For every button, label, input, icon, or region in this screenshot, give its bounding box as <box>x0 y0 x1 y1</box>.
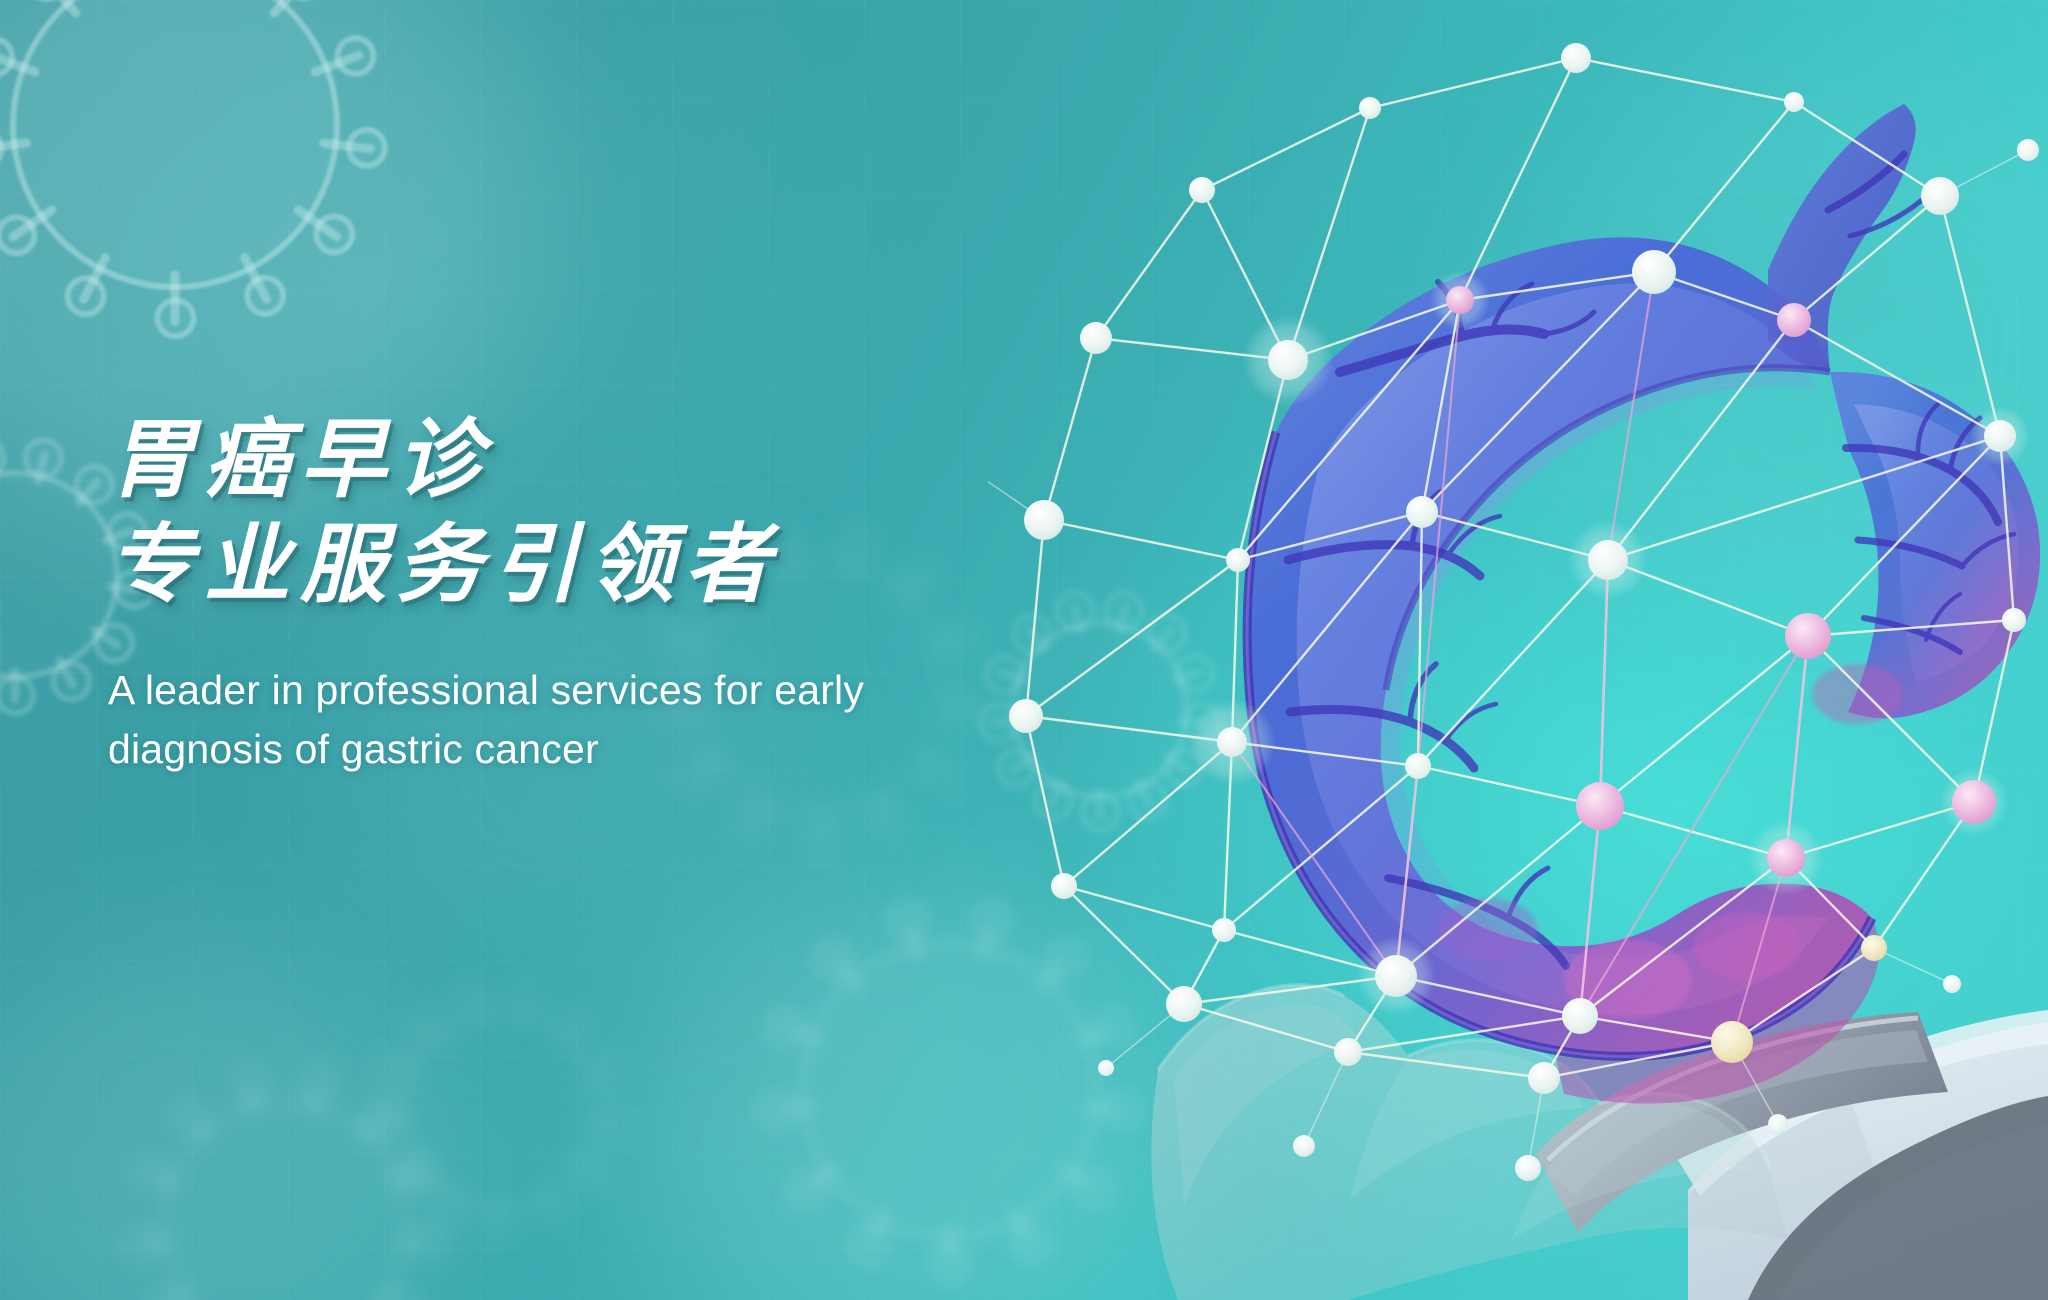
virus-spike <box>77 251 111 305</box>
virus-spike <box>1096 789 1105 820</box>
virus-body <box>800 940 1100 1240</box>
virus-spike <box>555 1016 584 1047</box>
subtitle: A leader in professional services for ea… <box>108 661 1168 777</box>
virus-spike <box>268 0 312 19</box>
virus-spike <box>244 1076 263 1119</box>
virus-spike <box>1007 1205 1039 1254</box>
headline-line-2: 专业服务引领者 <box>108 520 1168 611</box>
headline-line-1: 胃癌早诊 <box>108 415 1168 506</box>
virus-spike <box>378 1116 413 1129</box>
virus-spike <box>394 1234 437 1248</box>
virus-spike <box>1178 715 1209 728</box>
virus-spike <box>496 1198 505 1232</box>
virus-spike <box>292 204 343 243</box>
virus-spike <box>171 270 180 326</box>
virus-spike <box>319 138 376 154</box>
virus-spike <box>309 49 365 77</box>
virus-particle-icon <box>400 1010 600 1210</box>
virus-particle-icon <box>0 470 120 680</box>
subtitle-line-1: A leader in professional services for ea… <box>108 661 1168 719</box>
open-hand <box>1151 985 1788 1300</box>
virus-body <box>10 0 340 290</box>
virus-spike <box>238 251 272 305</box>
sleeve-cuff <box>1536 1012 2048 1300</box>
virus-spike <box>33 450 50 487</box>
virus-spike <box>397 1156 430 1183</box>
virus-spike <box>517 990 534 1025</box>
virus-spike <box>141 1167 184 1190</box>
lab-coat-sleeve <box>1678 1010 2048 1300</box>
virus-spike <box>977 911 998 963</box>
virus-spike <box>133 1234 176 1248</box>
virus-spike <box>946 1222 955 1273</box>
virus-spike <box>825 950 866 994</box>
virus-particle-icon <box>160 1100 410 1300</box>
virus-spike <box>373 1284 413 1300</box>
virus-spike <box>7 204 58 243</box>
virus-spike <box>439 1186 463 1220</box>
virus-spike <box>73 476 103 509</box>
virus-spike <box>797 1161 844 1197</box>
virus-spike <box>0 49 41 77</box>
virus-spike <box>0 138 31 154</box>
virus-spike <box>1034 950 1075 994</box>
virus-spike <box>1056 1161 1103 1197</box>
virus-spike <box>570 1156 603 1183</box>
virus-spike <box>537 1186 561 1220</box>
hero-banner: 胃癌早诊 专业服务引领者 A leader in professional se… <box>0 0 2048 1300</box>
virus-spike <box>768 1101 820 1116</box>
virus-spike <box>1133 778 1155 809</box>
virus-spike <box>816 804 825 848</box>
virus-body <box>0 470 120 680</box>
virus-spike <box>1072 1021 1123 1048</box>
virus-spike <box>307 1076 326 1119</box>
virus-spike <box>181 1108 216 1146</box>
virus-spike <box>581 1063 616 1083</box>
light-bloom <box>620 880 1180 1300</box>
subtitle-line-2: diagnosis of gastric cancer <box>108 720 1168 778</box>
virus-spike <box>902 911 923 963</box>
virus-spike <box>11 667 20 703</box>
virus-spike <box>869 789 898 832</box>
stomach-illustration <box>1247 104 2040 1104</box>
light-bloom <box>0 940 460 1300</box>
virus-spike <box>1172 667 1204 686</box>
virus-particle-icon <box>800 940 1100 1240</box>
hero-copy: 胃癌早诊 专业服务引领者 A leader in professional se… <box>108 415 1168 778</box>
network-halos <box>1188 270 2030 1016</box>
virus-spike <box>777 1021 828 1048</box>
virus-spike <box>38 0 82 19</box>
virus-spike <box>386 1167 429 1190</box>
virus-spike <box>466 990 483 1025</box>
virus-spike <box>416 1016 445 1047</box>
virus-spike <box>587 1116 622 1129</box>
light-bloom <box>1520 60 2048 620</box>
virus-spike <box>384 1063 419 1083</box>
virus-particle-icon <box>10 0 340 290</box>
virus-spike <box>1080 1101 1132 1116</box>
virus-spike <box>742 789 771 832</box>
virus-spike <box>54 655 79 691</box>
virus-spike <box>355 1108 390 1146</box>
virus-spike <box>157 1284 197 1300</box>
virus-spike <box>861 1205 893 1254</box>
virus-body <box>400 1010 600 1210</box>
virus-body <box>160 1100 410 1300</box>
virus-spike <box>1045 778 1067 809</box>
